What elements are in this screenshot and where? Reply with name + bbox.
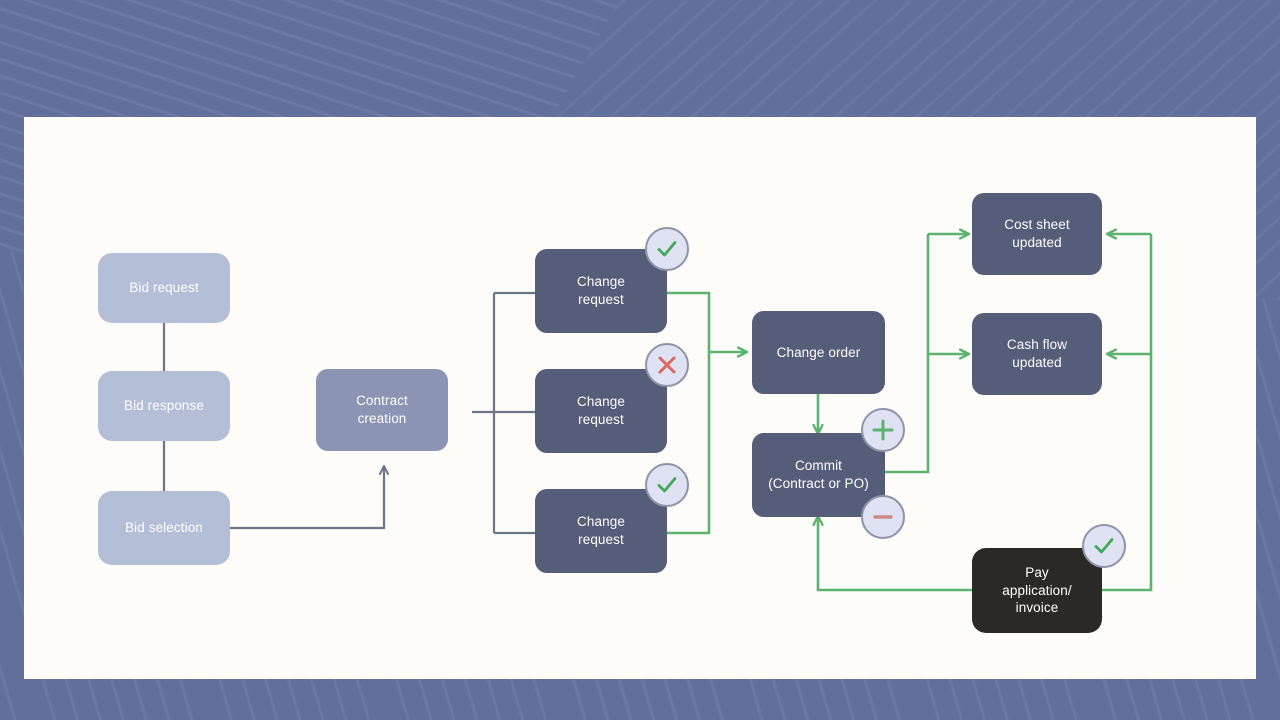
node-label: Change request (577, 273, 625, 309)
check-icon (1091, 533, 1117, 559)
badge-commit-subtract[interactable] (861, 495, 905, 539)
diagram-card: Bid request Bid response Bid selection C… (24, 117, 1256, 679)
node-change-request-1[interactable]: Change request (535, 249, 667, 333)
node-contract-creation[interactable]: Contract creation (316, 369, 448, 451)
badge-change-request-1-check[interactable] (645, 227, 689, 271)
node-pay-application-invoice[interactable]: Pay application/ invoice (972, 548, 1102, 633)
node-label: Commit (Contract or PO) (768, 457, 869, 493)
badge-change-request-3-check[interactable] (645, 463, 689, 507)
node-bid-response[interactable]: Bid response (98, 371, 230, 441)
node-change-order[interactable]: Change order (752, 311, 885, 394)
node-label: Pay application/ invoice (1002, 564, 1072, 617)
node-label: Bid response (124, 397, 204, 415)
badge-commit-add[interactable] (861, 408, 905, 452)
node-bid-selection[interactable]: Bid selection (98, 491, 230, 565)
node-change-request-2[interactable]: Change request (535, 369, 667, 453)
node-cost-sheet-updated[interactable]: Cost sheet updated (972, 193, 1102, 275)
node-label: Cost sheet updated (1004, 216, 1070, 252)
node-label: Change order (777, 344, 861, 362)
node-bid-request[interactable]: Bid request (98, 253, 230, 323)
node-change-request-3[interactable]: Change request (535, 489, 667, 573)
node-label: Cash flow updated (1007, 336, 1067, 372)
node-label: Contract creation (356, 392, 408, 428)
node-label: Bid selection (125, 519, 203, 537)
check-icon (654, 472, 680, 498)
plus-icon (870, 417, 896, 443)
node-label: Bid request (129, 279, 198, 297)
node-cash-flow-updated[interactable]: Cash flow updated (972, 313, 1102, 395)
slide-canvas: Bid request Bid response Bid selection C… (0, 0, 1280, 720)
check-icon (654, 236, 680, 262)
cross-icon (655, 353, 679, 377)
badge-pay-application-check[interactable] (1082, 524, 1126, 568)
node-label: Change request (577, 393, 625, 429)
badge-change-request-2-cross[interactable] (645, 343, 689, 387)
node-label: Change request (577, 513, 625, 549)
minus-icon (870, 504, 896, 530)
